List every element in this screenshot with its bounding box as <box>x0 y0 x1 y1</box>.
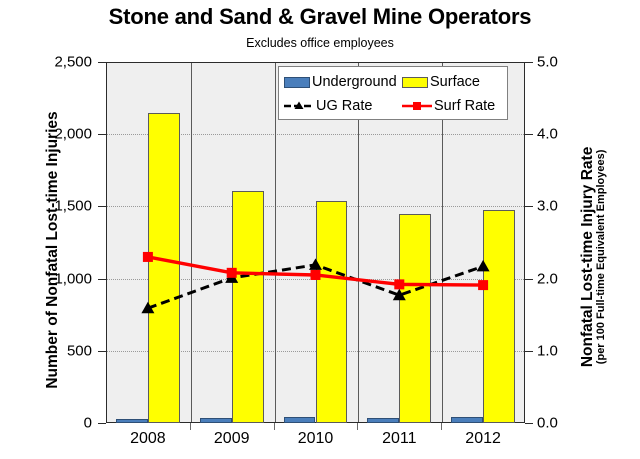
y-tick-left <box>98 206 106 207</box>
x-tick <box>274 423 275 430</box>
chart-title: Stone and Sand & Gravel Mine Operators <box>0 4 640 30</box>
bar-surface <box>148 113 180 423</box>
legend-swatch-underground-icon <box>284 77 310 88</box>
legend-swatch-surface-icon <box>402 77 428 88</box>
y-tick-label-left: 1,000 <box>32 270 92 287</box>
x-tick <box>441 423 442 430</box>
bar-underground <box>367 418 399 423</box>
y-axis-right-title-main: Nonfatal Lost-time Injury Rate <box>579 147 596 367</box>
category-separator <box>191 63 192 422</box>
legend-line-surf-rate-icon <box>402 99 432 113</box>
x-tick <box>190 423 191 430</box>
x-tick-label: 2012 <box>438 430 528 448</box>
y-tick-right <box>525 134 533 135</box>
y-tick-label-left: 1,500 <box>32 198 92 215</box>
legend-row-lines: UG Rate Surf Rate <box>284 94 502 118</box>
legend-line-ug-rate-icon <box>284 99 314 113</box>
x-tick <box>357 423 358 430</box>
legend-label-surface: Surface <box>430 74 480 90</box>
legend-label-underground: Underground <box>312 74 397 90</box>
y-tick-right <box>525 279 533 280</box>
y-tick-right <box>525 206 533 207</box>
y-tick-label-right: 4.0 <box>537 126 577 143</box>
y-tick-label-left: 500 <box>32 342 92 359</box>
y-tick-right <box>525 62 533 63</box>
y-tick-right <box>525 351 533 352</box>
y-tick-label-right: 2.0 <box>537 270 577 287</box>
chart-subtitle: Excludes office employees <box>0 36 640 50</box>
category-separator <box>275 63 276 422</box>
bar-underground <box>116 419 148 423</box>
y-tick-left <box>98 279 106 280</box>
chart-root: Stone and Sand & Gravel Mine Operators E… <box>0 0 640 459</box>
bar-underground <box>451 417 483 423</box>
y-axis-right-title-sub: (per 100 Full-time Equivalent Employees) <box>596 87 608 427</box>
legend-label-ug-rate: UG Rate <box>316 98 372 114</box>
x-tick-label: 2008 <box>103 430 193 448</box>
y-tick-right <box>525 423 533 424</box>
y-tick-label-left: 2,000 <box>32 126 92 143</box>
legend-item-surf-rate[interactable]: Surf Rate <box>402 98 495 114</box>
x-tick-label: 2010 <box>271 430 361 448</box>
x-tick-label: 2011 <box>354 430 444 448</box>
y-tick-label-left: 0 <box>32 415 92 432</box>
y-tick-label-right: 0.0 <box>537 415 577 432</box>
y-tick-label-right: 3.0 <box>537 198 577 215</box>
bar-surface <box>399 214 431 423</box>
legend-item-underground[interactable]: Underground <box>284 74 402 90</box>
legend-label-surf-rate: Surf Rate <box>434 98 495 114</box>
bar-surface <box>232 191 264 423</box>
bar-surface <box>483 210 515 423</box>
bar-underground <box>284 417 316 423</box>
y-tick-left <box>98 423 106 424</box>
legend-item-surface[interactable]: Surface <box>402 74 480 90</box>
y-tick-left <box>98 62 106 63</box>
legend-item-ug-rate[interactable]: UG Rate <box>284 98 402 114</box>
y-tick-left <box>98 134 106 135</box>
bar-underground <box>200 418 232 423</box>
y-tick-label-right: 1.0 <box>537 342 577 359</box>
y-axis-right-title: Nonfatal Lost-time Injury Rate (per 100 … <box>580 87 608 427</box>
legend-row-bars: Underground Surface <box>284 70 502 94</box>
y-tick-label-left: 2,500 <box>32 54 92 71</box>
y-tick-left <box>98 351 106 352</box>
chart-legend: Underground Surface UG Rate <box>278 66 508 120</box>
y-tick-label-right: 5.0 <box>537 54 577 71</box>
bar-surface <box>316 201 348 423</box>
x-tick-label: 2009 <box>187 430 277 448</box>
